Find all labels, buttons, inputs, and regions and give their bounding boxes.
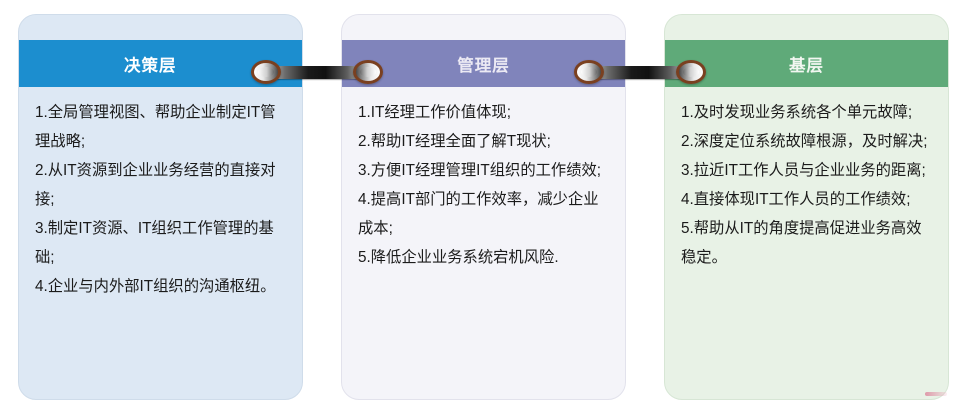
list-item: 3.方便IT经理管理IT组织的工作绩效; (358, 156, 611, 185)
chain-ring-hole (683, 67, 699, 77)
card-top-spacer (665, 15, 948, 40)
list-item: 2.深度定位系统故障根源，及时解决; (681, 127, 934, 156)
list-item: 3.拉近IT工作人员与企业业务的距离; (681, 156, 934, 185)
card-body-base-layer: 1.及时发现业务系统各个单元故障; 2.深度定位系统故障根源，及时解决; 3.拉… (665, 87, 948, 272)
list-item: 4.提高IT部门的工作效率，减少企业成本; (358, 185, 611, 243)
chain-ring-hole (581, 67, 597, 77)
list-item: 5.帮助从IT的角度提高促进业务高效稳定。 (681, 214, 934, 272)
list-item: 2.从IT资源到企业业务经营的直接对接; (35, 156, 288, 214)
corner-artifact (925, 392, 947, 396)
card-body-management-layer: 1.IT经理工作价值体现; 2.帮助IT经理全面了解T现状; 3.方便IT经理管… (342, 87, 625, 272)
card-base-layer: 基层 1.及时发现业务系统各个单元故障; 2.深度定位系统故障根源，及时解决; … (664, 14, 949, 400)
chain-link-icon (251, 60, 281, 84)
list-item: 4.直接体现IT工作人员的工作绩效; (681, 185, 934, 214)
card-top-spacer (19, 15, 302, 40)
card-header-base-layer: 基层 (665, 40, 948, 87)
connector-decision-management (251, 58, 383, 86)
chain-link-icon (353, 60, 383, 84)
card-title-base-layer: 基层 (789, 52, 824, 76)
list-item: 4.企业与内外部IT组织的沟通枢纽。 (35, 272, 288, 301)
card-top-spacer (342, 15, 625, 40)
chain-link-icon (676, 60, 706, 84)
list-item: 5.降低企业业务系统宕机风险. (358, 243, 611, 272)
list-item: 2.帮助IT经理全面了解T现状; (358, 127, 611, 156)
list-item: 3.制定IT资源、IT组织工作管理的基础; (35, 214, 288, 272)
card-body-decision-layer: 1.全局管理视图、帮助企业制定IT管理战略; 2.从IT资源到企业业务经营的直接… (19, 87, 302, 301)
list-item: 1.IT经理工作价值体现; (358, 98, 611, 127)
list-item: 1.全局管理视图、帮助企业制定IT管理战略; (35, 98, 288, 156)
card-title-decision-layer: 决策层 (124, 52, 177, 76)
card-title-management-layer: 管理层 (457, 52, 510, 76)
list-item: 1.及时发现业务系统各个单元故障; (681, 98, 934, 127)
chain-link-icon (574, 60, 604, 84)
connector-management-base (574, 58, 706, 86)
diagram-canvas: 决策层 1.全局管理视图、帮助企业制定IT管理战略; 2.从IT资源到企业业务经… (0, 0, 960, 416)
chain-ring-hole (360, 67, 376, 77)
chain-ring-hole (258, 67, 274, 77)
